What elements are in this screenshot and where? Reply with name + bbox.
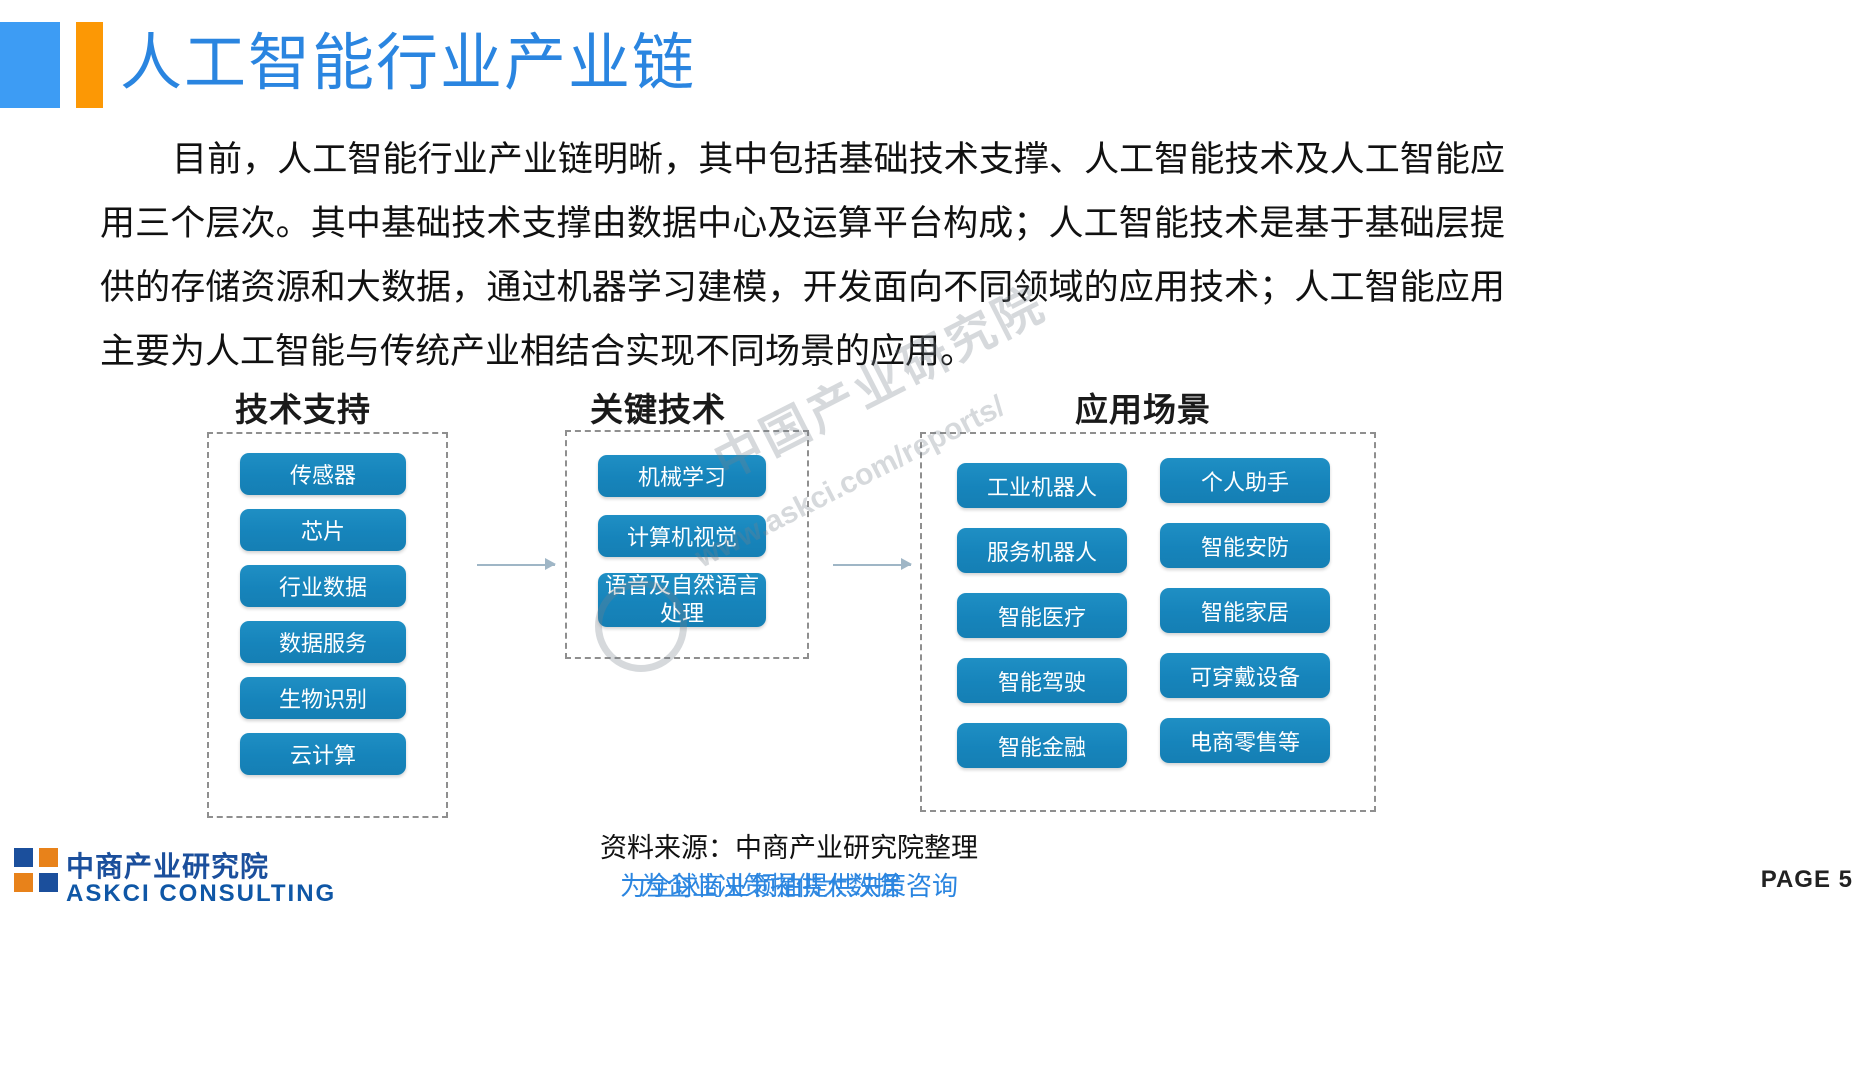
- watermark-logo-icon: [595, 580, 687, 672]
- askci-logo-icon: [14, 848, 58, 892]
- page-title: 人工智能行业产业链: [120, 20, 696, 108]
- chip-tech-support-3[interactable]: 数据服务: [240, 621, 406, 663]
- chip-application-left-4[interactable]: 智能金融: [957, 723, 1127, 768]
- chip-tech-support-1[interactable]: 芯片: [240, 509, 406, 551]
- section-title-key-tech: 关键技术: [590, 383, 726, 431]
- chip-application-left-2[interactable]: 智能医疗: [957, 593, 1127, 638]
- slide-page: 人工智能行业产业链 目前，人工智能行业产业链明晰，其中包括基础技术支撑、人工智能…: [0, 0, 1875, 1081]
- chip-key-tech-1[interactable]: 计算机视觉: [598, 515, 766, 557]
- header-orange-bar: [76, 22, 103, 108]
- intro-paragraph: 目前，人工智能行业产业链明晰，其中包括基础技术支撑、人工智能技术及人工智能应用三…: [100, 128, 1505, 384]
- chip-application-left-3[interactable]: 智能驾驶: [957, 658, 1127, 703]
- chip-tech-support-5[interactable]: 云计算: [240, 733, 406, 775]
- chip-application-left-0[interactable]: 工业机器人: [957, 463, 1127, 508]
- footer-logo-cn: 中商产业研究院: [66, 845, 269, 885]
- chip-application-right-3[interactable]: 可穿戴设备: [1160, 653, 1330, 698]
- arrow-right-icon-1: [477, 555, 555, 575]
- chip-tech-support-0[interactable]: 传感器: [240, 453, 406, 495]
- arrow-right-icon-2: [833, 555, 911, 575]
- chip-application-right-1[interactable]: 智能安防: [1160, 523, 1330, 568]
- chip-application-left-1[interactable]: 服务机器人: [957, 528, 1127, 573]
- footer-logo-en: ASKCI CONSULTING: [66, 880, 336, 908]
- chip-tech-support-4[interactable]: 生物识别: [240, 677, 406, 719]
- industry-chain-diagram: 技术支持 关键技术 应用场景 传感器 芯片 行业数据 数据服务 生物识别 云计算…: [0, 375, 1875, 820]
- chip-application-right-0[interactable]: 个人助手: [1160, 458, 1330, 503]
- footer-tagline: 为全球商业领袖提供决策咨询: [620, 866, 958, 903]
- header-blue-block: [0, 22, 60, 108]
- section-title-tech-support: 技术支持: [235, 383, 371, 431]
- page-number: PAGE 5: [1761, 866, 1853, 894]
- section-title-applications: 应用场景: [1075, 383, 1211, 431]
- chip-tech-support-2[interactable]: 行业数据: [240, 565, 406, 607]
- source-note: 资料来源：中商产业研究院整理: [600, 826, 978, 865]
- chip-application-right-4[interactable]: 电商零售等: [1160, 718, 1330, 763]
- chip-key-tech-0[interactable]: 机械学习: [598, 455, 766, 497]
- chip-application-right-2[interactable]: 智能家居: [1160, 588, 1330, 633]
